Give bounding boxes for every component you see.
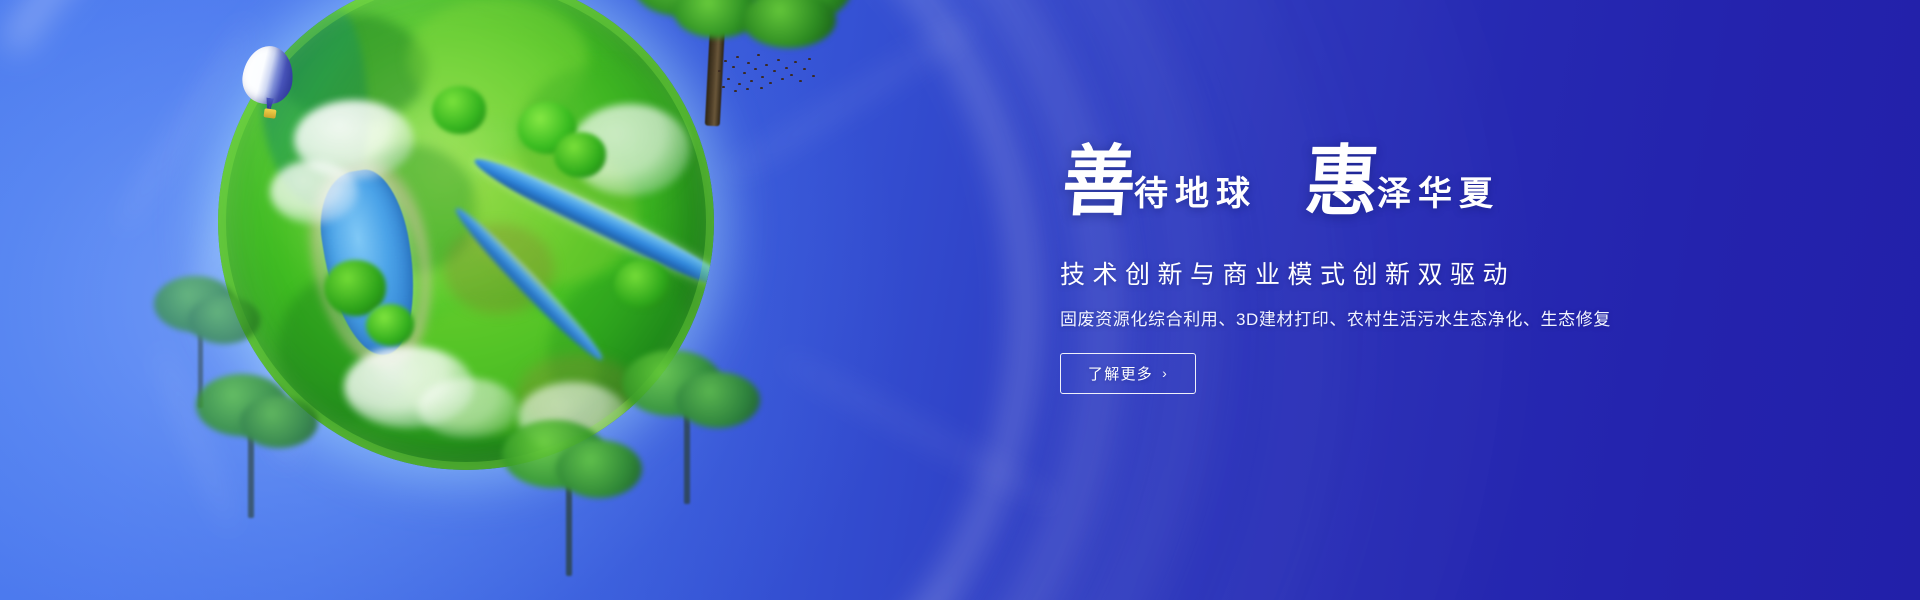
chevron-right-icon: › bbox=[1162, 366, 1168, 380]
terrain-texture bbox=[398, 304, 598, 434]
tree-canopy bbox=[554, 132, 606, 178]
hot-air-balloon-icon bbox=[243, 46, 299, 124]
balloon-basket bbox=[263, 108, 276, 119]
tree-foliage bbox=[188, 296, 260, 344]
tree-foliage bbox=[622, 350, 722, 416]
headline-char-1: 善 bbox=[1060, 143, 1138, 220]
wisp-cloud bbox=[310, 0, 550, 92]
tree-foliage bbox=[240, 396, 318, 448]
tree-foliage bbox=[502, 420, 606, 488]
wisp-cloud bbox=[112, 16, 258, 236]
terrain-texture bbox=[468, 144, 638, 284]
wisp-cloud bbox=[717, 12, 982, 188]
tree-canopy bbox=[324, 260, 386, 316]
tree-canopy bbox=[366, 304, 414, 346]
learn-more-label: 了解更多 bbox=[1088, 363, 1153, 384]
river bbox=[469, 148, 714, 300]
tree-canopy bbox=[518, 102, 576, 154]
surface-cloud bbox=[418, 378, 518, 438]
learn-more-button[interactable]: 了解更多 › bbox=[1060, 353, 1196, 394]
terrain-texture bbox=[548, 274, 698, 434]
tree-foliage bbox=[154, 276, 236, 332]
tree-trunk bbox=[198, 312, 203, 408]
terrain-texture bbox=[278, 274, 408, 424]
headline-text-1: 待地球 bbox=[1134, 177, 1257, 211]
tree-canopy bbox=[432, 86, 486, 134]
bird-flock-icon bbox=[716, 50, 818, 94]
tree-foliage bbox=[676, 372, 760, 428]
surface-cloud bbox=[344, 346, 474, 428]
tree-canopy bbox=[614, 260, 670, 310]
subtitle: 技术创新与商业模式创新双驱动 bbox=[1060, 260, 1700, 290]
tree-foliage bbox=[556, 440, 642, 498]
wisp-cloud bbox=[774, 346, 1067, 516]
hero-banner: 善 待地球 惠 泽华夏 技术创新与商业模式创新双驱动 固废资源化综合利用、3D建… bbox=[0, 0, 1920, 600]
terrain-texture bbox=[408, 0, 588, 118]
surface-cloud bbox=[518, 382, 628, 452]
tree-trunk bbox=[248, 414, 254, 518]
tree-trunk bbox=[684, 396, 690, 504]
balloon-envelope bbox=[239, 43, 297, 107]
terrain-texture bbox=[518, 64, 688, 214]
limb-tree bbox=[610, 346, 770, 516]
lake-shoreline bbox=[298, 152, 445, 378]
limb-tree bbox=[140, 272, 270, 422]
surface-cloud bbox=[270, 160, 358, 224]
tree-foliage bbox=[752, 0, 852, 22]
headline-text-2: 泽华夏 bbox=[1377, 177, 1500, 211]
limb-tree bbox=[178, 366, 328, 526]
limb-tree bbox=[486, 414, 656, 584]
terrain-texture bbox=[338, 144, 478, 274]
headline: 善 待地球 惠 泽华夏 bbox=[1060, 150, 1700, 234]
hero-copy: 善 待地球 惠 泽华夏 技术创新与商业模式创新双驱动 固废资源化综合利用、3D建… bbox=[1060, 150, 1700, 394]
wisp-cloud bbox=[249, 217, 301, 468]
headline-char-2: 惠 bbox=[1303, 143, 1381, 220]
tree-foliage bbox=[632, 0, 728, 16]
tree-foliage bbox=[196, 374, 288, 436]
cloud-halo-ring bbox=[0, 0, 1155, 600]
tree-trunk bbox=[566, 466, 572, 576]
tree-foliage bbox=[742, 0, 836, 48]
surface-cloud bbox=[570, 104, 690, 196]
wisp-cloud bbox=[180, 114, 276, 328]
tree-foliage bbox=[674, 0, 760, 38]
lake bbox=[312, 164, 426, 361]
surface-cloud bbox=[294, 100, 414, 180]
terrain-texture bbox=[518, 354, 638, 434]
description: 固废资源化综合利用、3D建材打印、农村生活污水生态净化、生态修复 bbox=[1060, 309, 1700, 331]
wisp-cloud bbox=[150, 343, 242, 535]
terrain-texture bbox=[444, 224, 554, 314]
tree-foliage bbox=[688, 0, 800, 4]
terrain-texture bbox=[278, 14, 428, 124]
cloud-halo-ring bbox=[0, 0, 1199, 600]
river bbox=[449, 202, 609, 367]
